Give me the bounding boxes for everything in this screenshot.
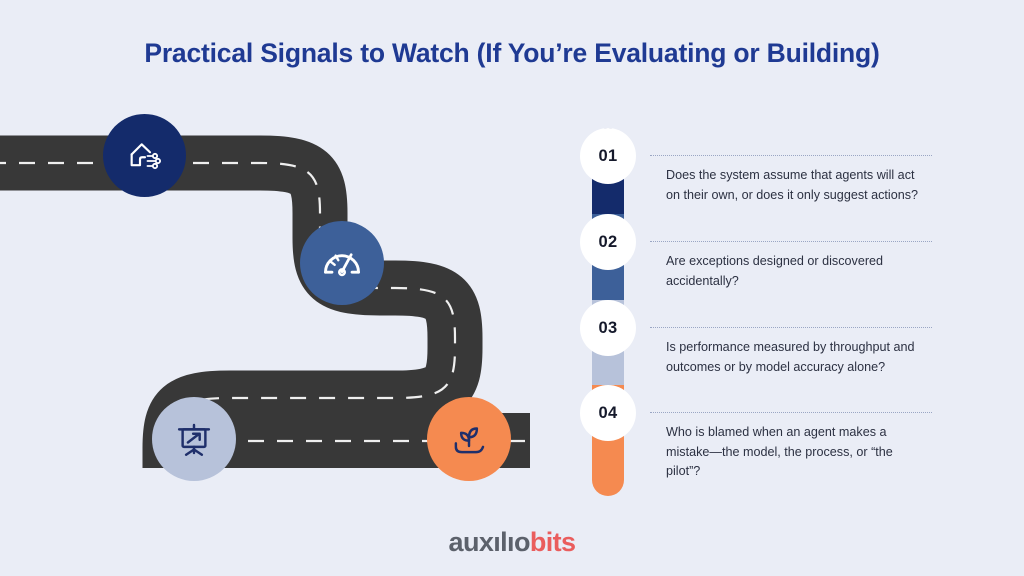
brand-logo-accent: bits [530, 527, 576, 557]
step-number-badge-3: 03 [580, 300, 636, 356]
step-description-3: Is performance measured by throughput an… [666, 338, 928, 377]
step-divider-3 [650, 327, 932, 328]
brand-logo[interactable]: auxılıobits [0, 527, 1024, 558]
step-divider-2 [650, 241, 932, 242]
step-description-1: Does the system assume that agents will … [666, 166, 928, 205]
speedometer-gauge-icon [320, 241, 364, 285]
step-description-2: Are exceptions designed or discovered ac… [666, 252, 928, 291]
step-number-badge-4: 04 [580, 385, 636, 441]
step-divider-1 [650, 155, 932, 156]
step-divider-4 [650, 412, 932, 413]
roadmap-milestone-4[interactable] [427, 397, 511, 481]
smart-home-iot-icon [125, 136, 165, 176]
step-number-badge-2: 02 [580, 214, 636, 270]
step-number-badge-1: 01 [580, 128, 636, 184]
timeline-list: 01 Does the system assume that agents wi… [592, 128, 932, 498]
page-title: Practical Signals to Watch (If You’re Ev… [0, 38, 1024, 69]
brand-logo-primary: auxılıo [449, 527, 530, 557]
roadmap-milestone-1[interactable] [103, 114, 186, 197]
step-description-4: Who is blamed when an agent makes a mist… [666, 423, 928, 482]
roadmap-milestone-3[interactable] [152, 397, 236, 481]
hand-holding-sprout-icon [448, 418, 490, 460]
presentation-growth-chart-icon [173, 418, 215, 460]
roadmap-milestone-2[interactable] [300, 221, 384, 305]
